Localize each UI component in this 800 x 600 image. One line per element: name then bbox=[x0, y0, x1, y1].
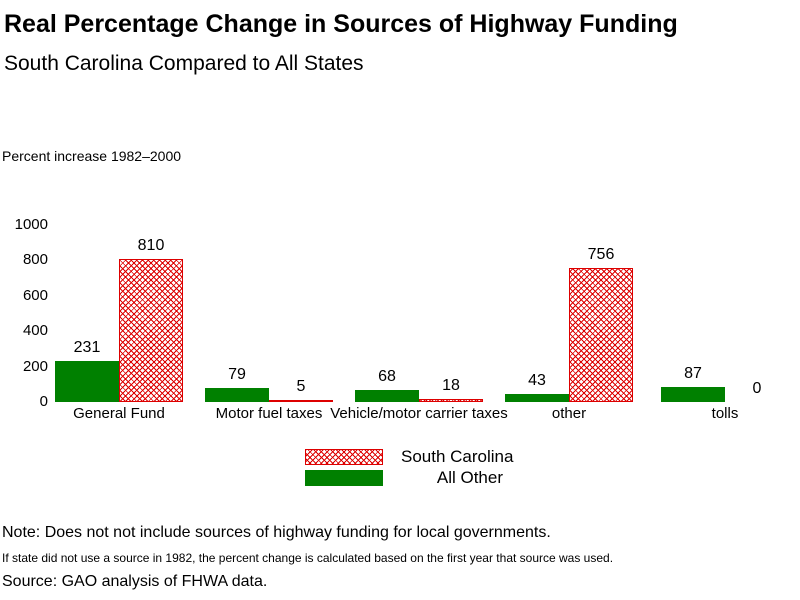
source-line: Source: GAO analysis of FHWA data. bbox=[2, 573, 267, 591]
legend-label: South Carolina bbox=[383, 447, 521, 467]
bar-value-label: 18 bbox=[419, 378, 483, 394]
bar-value-label: 756 bbox=[569, 247, 633, 263]
y-axis-tick-label: 200 bbox=[0, 359, 48, 374]
bar-value-label: 43 bbox=[505, 373, 569, 389]
bar-value-label: 231 bbox=[55, 340, 119, 356]
y-axis-tick-label: 800 bbox=[0, 252, 48, 267]
bar bbox=[269, 400, 333, 402]
y-axis-tick-label: 600 bbox=[0, 288, 48, 303]
legend-item: South Carolina bbox=[305, 447, 505, 468]
bar-value-label: 87 bbox=[661, 366, 725, 382]
bar bbox=[205, 388, 269, 402]
bar bbox=[119, 259, 183, 402]
bar bbox=[505, 394, 569, 402]
y-axis-tick-label: 1000 bbox=[0, 217, 48, 232]
bar-value-label: 79 bbox=[205, 367, 269, 383]
bar bbox=[55, 361, 119, 402]
chart-legend: South CarolinaAll Other bbox=[305, 447, 505, 489]
legend-item: All Other bbox=[305, 468, 505, 489]
y-axis-title: Percent increase 1982–2000 bbox=[2, 148, 181, 164]
legend-label: All Other bbox=[383, 468, 515, 488]
plot-area: 02004006008001000 231810795681843756870 bbox=[0, 200, 800, 410]
bar-value-label: 5 bbox=[269, 379, 333, 395]
x-axis-label: other bbox=[479, 406, 659, 422]
legend-swatch bbox=[305, 470, 383, 486]
bar-value-label: 0 bbox=[725, 381, 789, 397]
note-line-1: Note: Does not not include sources of hi… bbox=[2, 524, 551, 542]
chart-subtitle: South Carolina Compared to All States bbox=[4, 52, 364, 76]
note-line-2: If state did not use a source in 1982, t… bbox=[2, 551, 613, 565]
bar bbox=[661, 387, 725, 402]
bar bbox=[355, 390, 419, 402]
chart-figure: Real Percentage Change in Sources of Hig… bbox=[0, 0, 800, 600]
x-axis-label: tolls bbox=[635, 406, 800, 422]
bar-value-label: 68 bbox=[355, 369, 419, 385]
bar-value-label: 810 bbox=[119, 238, 183, 254]
chart-title: Real Percentage Change in Sources of Hig… bbox=[4, 10, 678, 39]
legend-swatch bbox=[305, 449, 383, 465]
bar bbox=[419, 399, 483, 402]
y-axis-tick-label: 400 bbox=[0, 323, 48, 338]
bar bbox=[569, 268, 633, 402]
